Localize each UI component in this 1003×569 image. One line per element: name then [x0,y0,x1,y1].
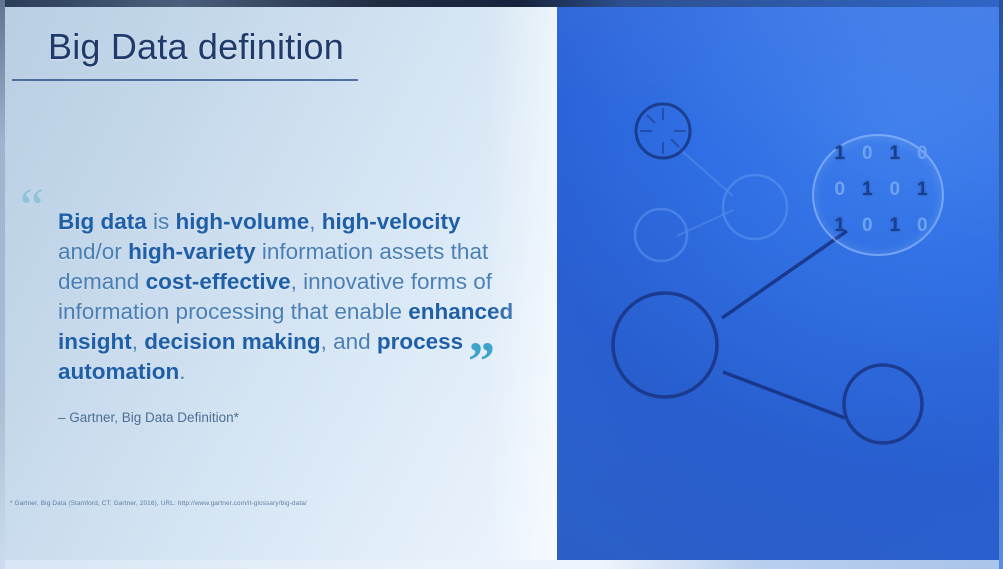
graph-node-large [613,293,717,397]
binary-digit: 1 [881,215,909,237]
binary-digit: 1 [909,179,937,201]
network-graph [557,0,1003,569]
binary-digit: 0 [854,143,882,165]
binary-digit: 0 [909,143,937,165]
graphic-panel [557,0,1003,569]
binary-digit: 0 [909,215,937,237]
quote-run: and/or [58,239,128,264]
quote-run: , [309,209,322,234]
binary-digit: 1 [826,143,854,165]
binary-digit: 1 [854,179,882,201]
quote-emphasis: Big data [58,209,147,234]
quote-run: . [179,359,185,384]
quote-run: , and [321,329,377,354]
binary-digit: 0 [881,179,909,201]
quote-emphasis: high-variety [128,239,256,264]
faint-node-right [723,175,787,239]
quote-attribution: – Gartner, Big Data Definition* [58,410,239,425]
photo-right-edge [999,0,1003,569]
photo-bottom-edge [0,560,1003,569]
tick-node [636,104,690,158]
main-graph [613,231,922,443]
quote-emphasis: high-velocity [322,209,461,234]
graph-node-medium [844,365,922,443]
quote-run: is [147,209,176,234]
slide-photo: Big Data definition “ Big data is high-v… [0,0,1003,569]
photo-top-edge [0,0,1003,7]
quote-run: , [132,329,145,354]
footnote-citation: * Gartner, Big Data (Stamford, CT: Gartn… [10,500,307,507]
binary-digit: 0 [826,179,854,201]
binary-digit: 1 [881,143,909,165]
title-underline [12,79,358,81]
binary-digit: 0 [854,215,882,237]
page-title: Big Data definition [48,26,344,68]
quote-emphasis: cost-effective [146,269,291,294]
binary-matrix: 101001011010 [826,143,936,237]
closing-quote-mark: ” [468,334,496,388]
opening-quote-mark: “ [20,180,45,234]
quote-text: Big data is high-volume, high-velocity a… [58,207,528,387]
quote-emphasis: high-volume [176,209,310,234]
content-panel: Big Data definition “ Big data is high-v… [0,0,557,569]
quote-emphasis: decision making [144,329,320,354]
photo-left-edge [0,0,5,569]
binary-digit: 1 [826,215,854,237]
